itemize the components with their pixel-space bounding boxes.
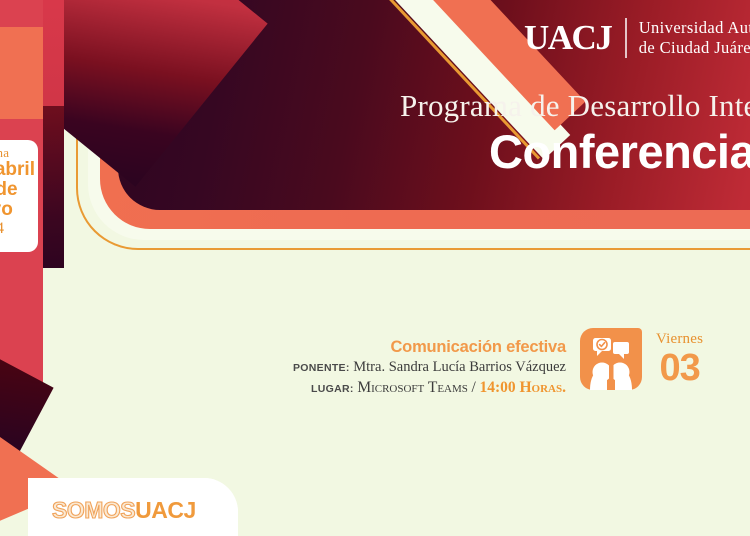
somos-logo-suffix: UACJ bbox=[135, 497, 196, 523]
communication-heads-icon bbox=[580, 328, 642, 390]
conference-title: Conferencias bbox=[489, 125, 750, 179]
left-bar-segment-coral bbox=[0, 27, 43, 119]
date-badge-line2: 29 de abril bbox=[0, 160, 38, 180]
place-label: Lugar: bbox=[311, 383, 354, 395]
session-time: 14:00 Horas. bbox=[479, 379, 566, 396]
day-name: Viernes bbox=[656, 331, 703, 348]
day-number: 03 bbox=[656, 348, 703, 388]
left-bar-segment-top bbox=[0, 0, 43, 27]
uacj-logo-name: Universidad Autónoma de Ciudad Juárez bbox=[639, 18, 750, 58]
uacj-logo-divider bbox=[625, 18, 626, 58]
left-secondary-bar-shadow bbox=[43, 106, 64, 268]
date-badge-year: 2024 bbox=[0, 220, 38, 238]
date-badge-line4: mayo bbox=[0, 200, 38, 220]
day-text: Viernes 03 bbox=[656, 331, 703, 388]
uacj-name-line1: Universidad Autónoma bbox=[639, 18, 750, 38]
session-title: Comunicación efectiva bbox=[286, 336, 566, 358]
date-badge-line3: al 3 de bbox=[0, 180, 38, 200]
session-speaker-row: Ponente: Mtra. Sandra Lucía Barrios Vázq… bbox=[286, 358, 566, 378]
speaker-name: Mtra. Sandra Lucía Barrios Vázquez bbox=[353, 359, 566, 375]
day-group: Viernes 03 bbox=[580, 328, 703, 390]
place-value: Microsoft Teams bbox=[357, 379, 468, 396]
program-title: Programa de Desarrollo Integral bbox=[400, 88, 750, 124]
date-badge: Semana 29 de abril al 3 de mayo 2024 bbox=[0, 140, 38, 252]
uacj-logo: UACJ Universidad Autónoma de Ciudad Juár… bbox=[524, 18, 750, 58]
session-info: Comunicación efectiva Ponente: Mtra. San… bbox=[286, 336, 566, 399]
uacj-name-line2: de Ciudad Juárez bbox=[639, 38, 750, 58]
speaker-label: Ponente: bbox=[293, 362, 350, 374]
place-separator: / bbox=[472, 379, 476, 396]
somos-uacj-logo: SOMOSUACJ bbox=[52, 497, 196, 524]
date-badge-line1: Semana bbox=[0, 146, 38, 160]
somos-logo-prefix: SOMOS bbox=[52, 497, 135, 523]
conference-poster: Semana 29 de abril al 3 de mayo 2024 UAC… bbox=[0, 0, 750, 536]
session-place-row: Lugar: Microsoft Teams / 14:00 Horas. bbox=[286, 378, 566, 399]
uacj-logo-mark: UACJ bbox=[524, 19, 611, 57]
